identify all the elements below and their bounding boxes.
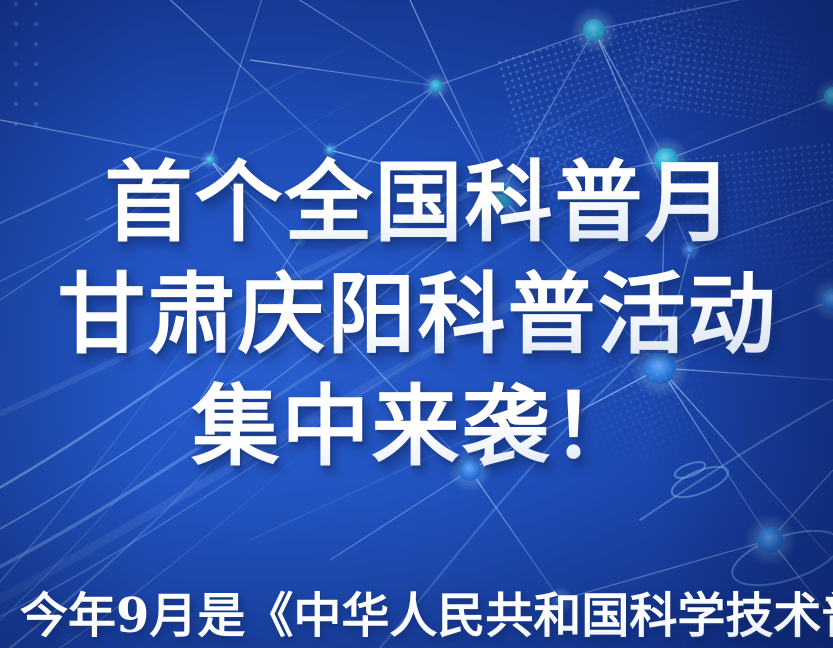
headline-line-1: 首个全国科普月 — [0, 146, 833, 258]
headline-block: 首个全国科普月 甘肃庆阳科普活动 集中来袭！ — [0, 146, 833, 482]
headline-line-3: 集中来袭！ — [0, 370, 833, 482]
poster-canvas: 首个全国科普月 甘肃庆阳科普活动 集中来袭！ 今年9月是《中华人民共和国科学技术… — [0, 0, 833, 648]
poster-caption: 今年9月是《中华人民共和国科学技术普及法》 — [20, 588, 833, 644]
headline-line-2: 甘肃庆阳科普活动 — [0, 258, 833, 370]
left-edge-dot-grid — [6, 0, 50, 130]
